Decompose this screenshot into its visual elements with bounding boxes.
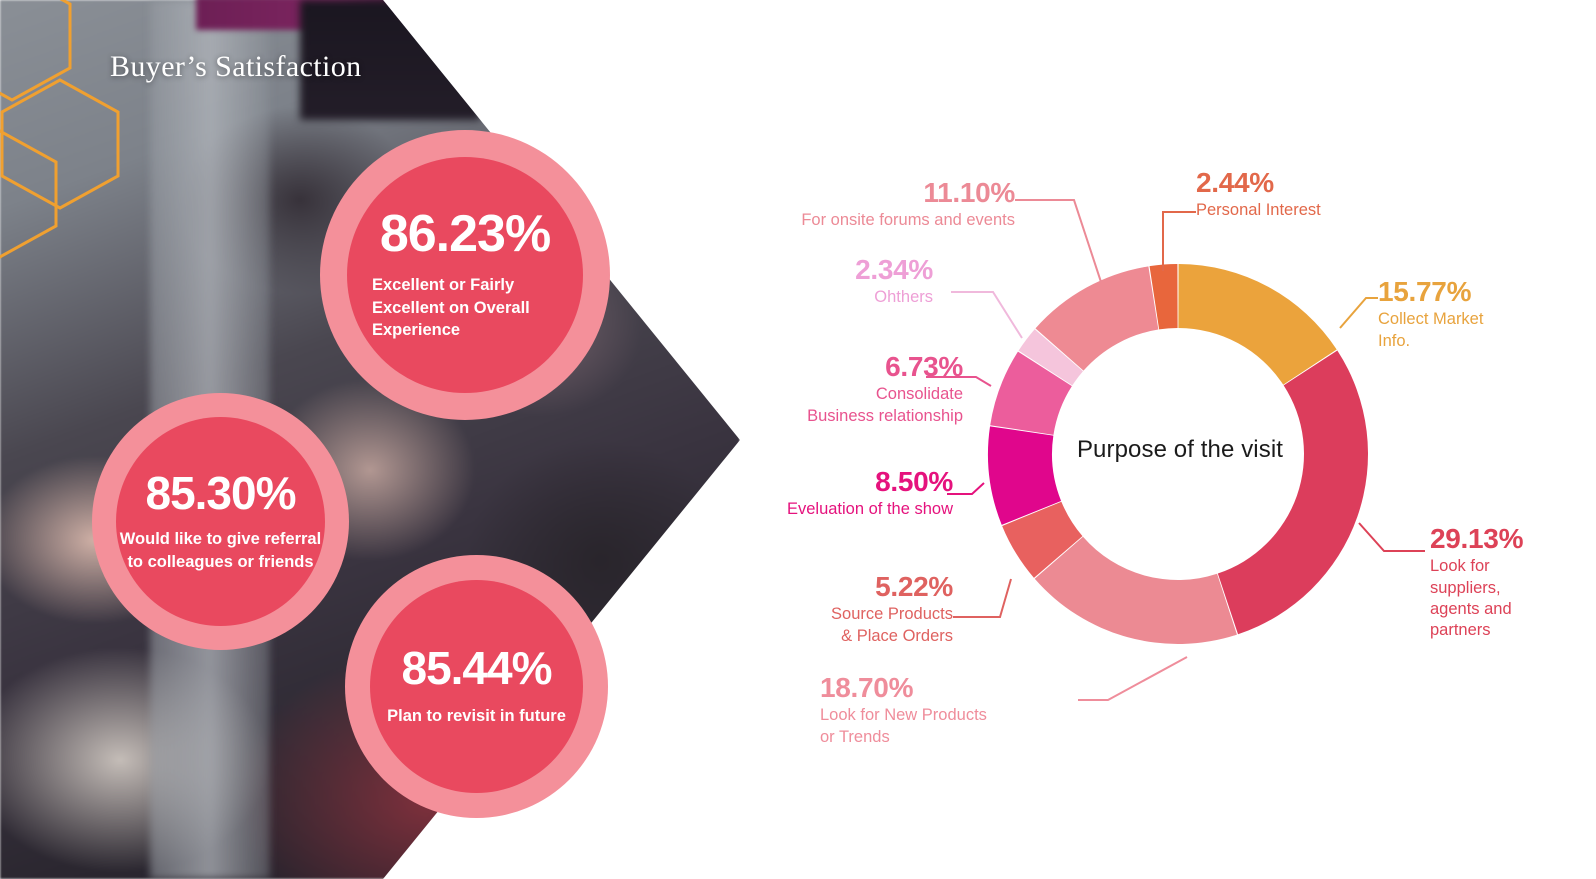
chart-label-value: 18.70% xyxy=(820,673,1140,702)
chart-label-text: Eveluation of the show xyxy=(653,499,953,520)
chart-label-consolidate: 6.73% Consolidate Business relationship xyxy=(633,352,963,427)
chart-label-value: 8.50% xyxy=(653,467,953,496)
chart-label-text: Personal Interest xyxy=(1196,200,1321,221)
donut-chart: Collect Market Info. 15.77%Look for supp… xyxy=(0,0,1596,879)
chart-label-value: 2.44% xyxy=(1196,168,1321,197)
leader-line-source-products xyxy=(953,579,1011,617)
chart-label-source-products: 5.22% Source Products & Place Orders xyxy=(693,572,953,647)
chart-label-value: 2.34% xyxy=(673,255,933,284)
donut-center-label: Purpose of the visit xyxy=(1068,436,1292,464)
chart-label-value: 6.73% xyxy=(633,352,963,381)
leader-line-others xyxy=(951,292,1022,338)
chart-label-look-suppliers: 29.13% Look for suppliers, agents and pa… xyxy=(1430,524,1523,641)
chart-label-others: 2.34% Ohthers xyxy=(673,255,933,309)
chart-label-value: 5.22% xyxy=(693,572,953,601)
chart-label-value: 11.10% xyxy=(705,178,1015,207)
chart-label-text: Look for New Products or Trends xyxy=(820,705,1140,747)
leader-line-personal-interest xyxy=(1163,212,1196,271)
leader-line-collect-market xyxy=(1340,298,1378,328)
chart-label-new-products: 18.70% Look for New Products or Trends xyxy=(820,673,1140,748)
chart-label-collect-market: 15.77% Collect Market Info. xyxy=(1378,277,1483,352)
chart-label-value: 29.13% xyxy=(1430,524,1523,553)
chart-label-evaluation: 8.50% Eveluation of the show xyxy=(653,467,953,521)
chart-label-personal-interest: 2.44% Personal Interest xyxy=(1196,168,1321,222)
chart-label-onsite-forums: 11.10% For onsite forums and events xyxy=(705,178,1015,232)
chart-label-text: Consolidate Business relationship xyxy=(633,384,963,426)
donut-slice[interactable]: Look for New Products or Trends 18.70% xyxy=(1035,537,1237,644)
leader-line-look-suppliers xyxy=(1359,523,1425,551)
chart-label-text: Source Products & Place Orders xyxy=(693,604,953,646)
chart-label-text: Collect Market Info. xyxy=(1378,309,1483,351)
chart-label-text: For onsite forums and events xyxy=(705,210,1015,231)
leader-line-onsite-forums xyxy=(1015,200,1101,282)
donut-slice[interactable]: Look for suppliers, agents and partners … xyxy=(1218,350,1368,634)
chart-label-text: Ohthers xyxy=(673,287,933,308)
chart-label-value: 15.77% xyxy=(1378,277,1483,306)
chart-label-text: Look for suppliers, agents and partners xyxy=(1430,556,1523,640)
